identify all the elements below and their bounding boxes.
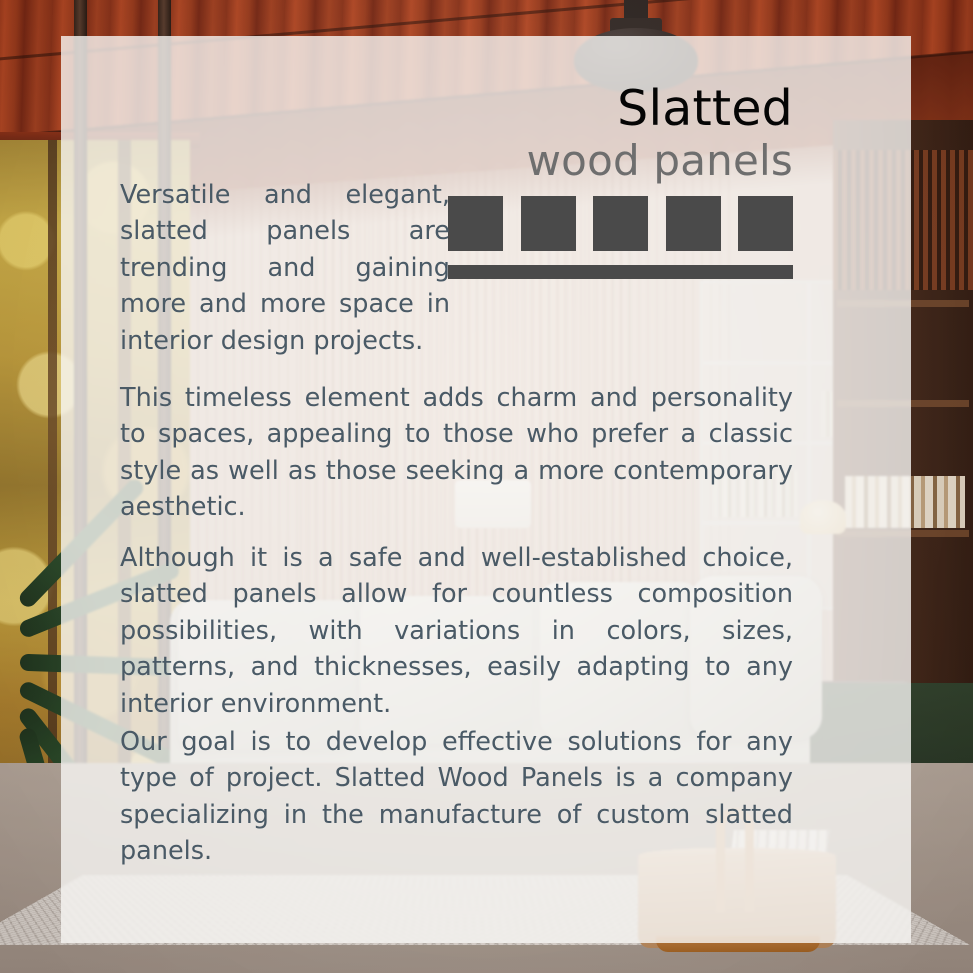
logo-base-bar: [448, 265, 793, 279]
logo-square: [666, 196, 721, 251]
body-paragraph-3: Although it is a safe and well-establish…: [120, 540, 793, 723]
slatted-panel-logo-icon: [448, 196, 793, 279]
body-paragraph-4: Our goal is to develop effective solutio…: [120, 724, 793, 870]
poster-canvas: Slatted wood panels Versatile and elegan…: [0, 0, 973, 973]
poster-content: Slatted wood panels Versatile and elegan…: [120, 36, 793, 943]
brand-title-line2: wood panels: [448, 136, 793, 186]
logo-square: [738, 196, 793, 251]
logo-square: [593, 196, 648, 251]
logo-squares-group: [448, 196, 793, 251]
logo-square: [521, 196, 576, 251]
body-paragraph-2: This timeless element adds charm and per…: [120, 380, 793, 526]
brand-lockup: Slatted wood panels: [448, 82, 793, 186]
logo-square: [448, 196, 503, 251]
brand-title-line1: Slatted: [448, 82, 793, 136]
body-paragraph-1: Versatile and elegant, slatted panels ar…: [120, 177, 450, 360]
